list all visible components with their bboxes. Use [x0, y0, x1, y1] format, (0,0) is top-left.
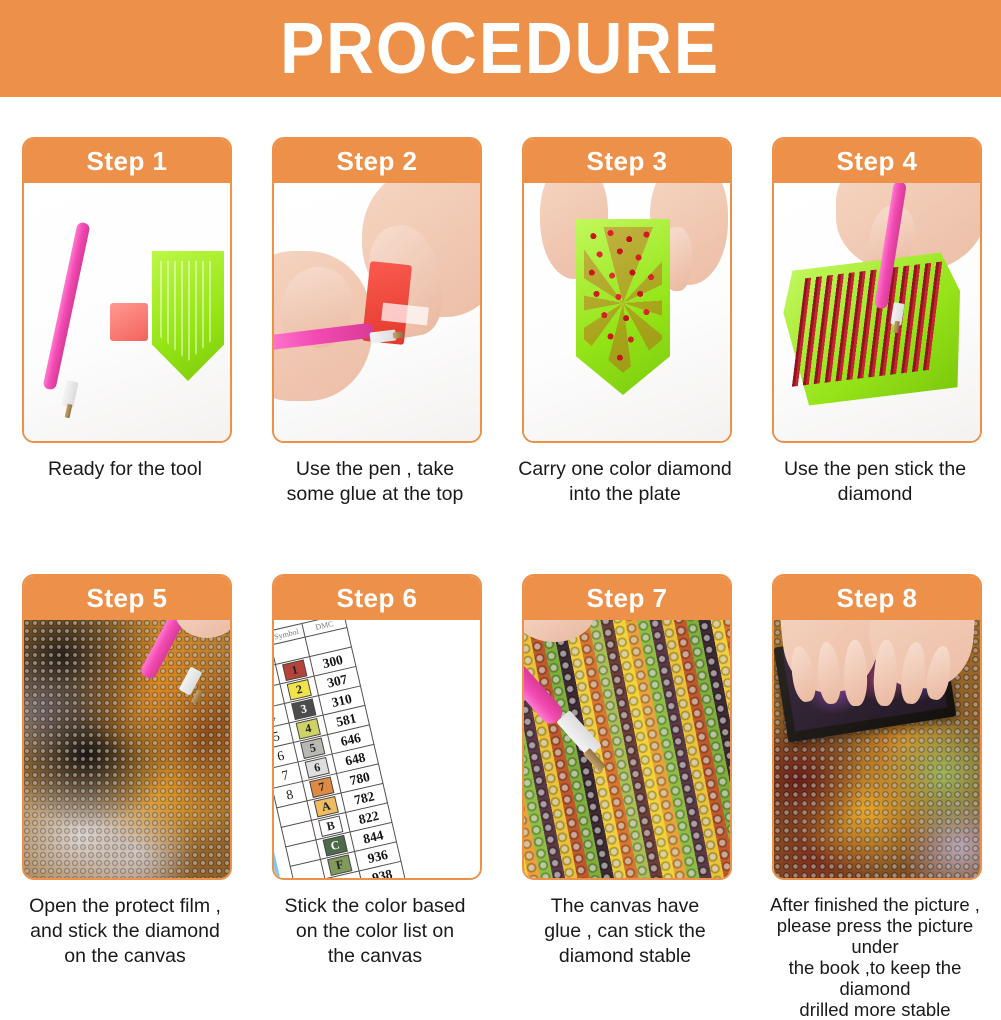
step-4-card: Step 4: [772, 137, 982, 443]
step-8-header: Step 8: [774, 576, 980, 620]
color-legend-body: NoSymbolDMC12130032307433105458165646766…: [274, 620, 414, 878]
step-6-header: Step 6: [274, 576, 480, 620]
glue-square: [110, 303, 148, 341]
step-3-header: Step 3: [524, 139, 730, 183]
pen-metal-tip: [393, 331, 404, 338]
page-title: PROCEDURE: [281, 13, 721, 85]
step-card-5: Step 5 Open the protect film , and stick…: [0, 574, 250, 969]
procedure-infographic: PROCEDURE Step 1 Ready for: [0, 0, 1001, 1001]
glue-canvas-photo: [524, 620, 730, 878]
step-2-card: Step 2: [272, 137, 482, 443]
step-4-caption: Use the pen stick the diamond: [750, 457, 1000, 507]
drill-rows: [792, 261, 944, 386]
drill-texture: [24, 620, 230, 878]
tools-photo: [24, 183, 230, 441]
step-1-header: Step 1: [24, 139, 230, 183]
step-card-8: Step 8: [750, 574, 1000, 1020]
drill-bead-texture: [524, 620, 730, 878]
pen-glue-photo: [274, 183, 480, 441]
step-8-card: Step 8: [772, 574, 982, 880]
step-5-card: Step 5: [22, 574, 232, 880]
step-card-4: Step 4 Use the pen stick the diamond: [750, 137, 1000, 507]
step-7-caption: The canvas have glue , can stick the dia…: [500, 894, 750, 969]
press-book-photo: [774, 620, 980, 878]
step-1-card: Step 1: [22, 137, 232, 443]
step-8-caption: After finished the picture , please pres…: [750, 894, 1000, 1020]
step-card-7: Step 7 The canvas have glue , can stick …: [500, 574, 750, 969]
step-6-card: Step 6 NoSymbolDMC1213003230743310545816…: [272, 574, 482, 880]
color-legend-table: NoSymbolDMC12130032307433105458165646766…: [274, 620, 415, 878]
color-chart-photo: NoSymbolDMC12130032307433105458165646766…: [274, 620, 480, 878]
step-1-caption: Ready for the tool: [0, 457, 250, 482]
step-4-header: Step 4: [774, 139, 980, 183]
step-2-header: Step 2: [274, 139, 480, 183]
canvas-sunflower-photo: [24, 620, 230, 878]
step-6-caption: Stick the color based on the color list …: [250, 894, 500, 969]
step-7-header: Step 7: [524, 576, 730, 620]
step-3-card: Step 3: [522, 137, 732, 443]
pick-diamond-photo: [774, 183, 980, 441]
step-2-caption: Use the pen , take some glue at the top: [250, 457, 500, 507]
steps-grid: Step 1 Ready for the tool St: [0, 97, 1001, 1001]
step-7-card: Step 7: [522, 574, 732, 880]
step-5-header: Step 5: [24, 576, 230, 620]
pour-diamonds-photo: [524, 183, 730, 441]
step-5-caption: Open the protect film , and stick the di…: [0, 894, 250, 969]
step-3-caption: Carry one color diamond into the plate: [500, 457, 750, 507]
step-card-1: Step 1 Ready for the tool: [0, 137, 250, 482]
color-list-sheet: NoSymbolDMC12130032307433105458165646766…: [274, 620, 480, 878]
step-card-6: Step 6 NoSymbolDMC1213003230743310545816…: [250, 574, 500, 969]
step-card-2: Step 2 Use the: [250, 137, 500, 507]
page-banner: PROCEDURE: [0, 0, 1001, 97]
step-card-3: Step 3 Carry one color diamond into the …: [500, 137, 750, 507]
